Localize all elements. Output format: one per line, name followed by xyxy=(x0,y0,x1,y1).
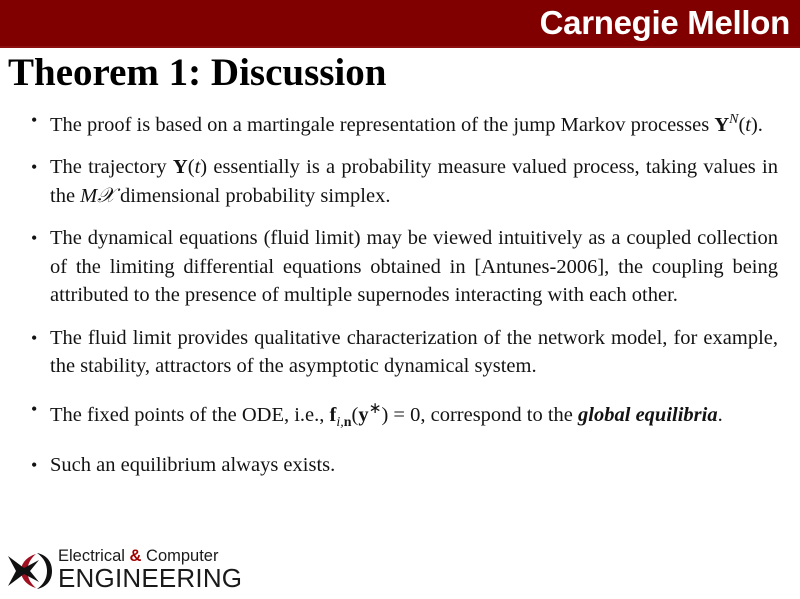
emphasis-global-equilibria: global equilibria xyxy=(578,404,718,426)
bullet-marker-icon: • xyxy=(31,106,37,135)
bullet-marker-icon: • xyxy=(31,153,37,182)
math-symbol-Y: Y xyxy=(714,114,729,136)
list-item: • The fluid limit provides qualitative c… xyxy=(26,324,778,381)
logo-line-engineering: ENGINEERING xyxy=(58,565,263,592)
list-item: • The trajectory Y(t) essentially is a p… xyxy=(26,153,778,210)
logo-black-arc xyxy=(37,553,52,589)
list-item-text: The fluid limit provides qualitative cha… xyxy=(50,324,778,381)
math-subscript-i-n: i,n xyxy=(336,415,351,430)
list-item-text: The proof is based on a martingale repre… xyxy=(50,106,778,139)
ece-logo-wordmark: Electrical & Computer ENGINEERING xyxy=(58,548,263,592)
bullet-marker-icon: • xyxy=(31,395,37,424)
math-superscript-star: ∗ xyxy=(369,400,382,417)
list-item-text: The fixed points of the ODE, i.e., fi,n(… xyxy=(50,395,778,437)
bullet-list: • The proof is based on a martingale rep… xyxy=(26,106,778,480)
page-title: Theorem 1: Discussion xyxy=(8,50,386,95)
list-item-text: The dynamical equations (fluid limit) ma… xyxy=(50,224,778,310)
bullet-marker-icon: • xyxy=(31,451,37,480)
list-item-text: The trajectory Y(t) essentially is a pro… xyxy=(50,153,778,210)
math-symbol-script-X: 𝒳 xyxy=(97,185,115,207)
footer-logo: Electrical & Computer ENGINEERING xyxy=(6,548,266,596)
math-symbol-t: t xyxy=(195,156,201,178)
list-item-text: Such an equilibrium always exists. xyxy=(50,451,778,480)
math-symbol-y: y xyxy=(358,404,368,426)
list-item: • The dynamical equations (fluid limit) … xyxy=(26,224,778,310)
math-symbol-Y: Y xyxy=(173,156,188,178)
slide: Carnegie Mellon Theorem 1: Discussion • … xyxy=(0,0,800,599)
logo-bowtie xyxy=(8,556,39,586)
math-symbol-t: t xyxy=(745,114,751,136)
list-item: • The proof is based on a martingale rep… xyxy=(26,106,778,139)
bullet-marker-icon: • xyxy=(31,224,37,253)
math-superscript-N: N xyxy=(729,112,738,127)
list-item: • Such an equilibrium always exists. xyxy=(26,451,778,480)
list-item: • The fixed points of the ODE, i.e., fi,… xyxy=(26,395,778,437)
math-symbol-M: M xyxy=(80,185,97,207)
brand-title: Carnegie Mellon xyxy=(540,2,790,44)
bullet-marker-icon: • xyxy=(31,324,37,353)
header-underline xyxy=(0,46,800,48)
ece-logo-mark-icon xyxy=(6,550,54,592)
